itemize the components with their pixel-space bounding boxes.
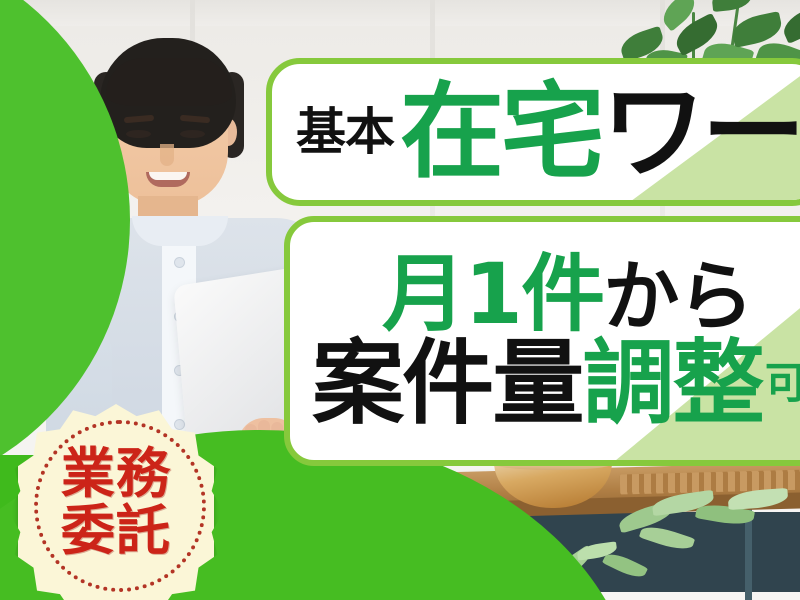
headline-line-1: 基本 在宅 ワーク [272,80,800,184]
nose [160,144,174,166]
advertisement-banner: 基本 在宅 ワーク 月1件 から 案件量 調整 可能 [0,0,800,600]
headline-banner-primary: 基本 在宅 ワーク [266,58,800,206]
headline-keyword-chousei: 調整 [582,338,762,430]
headline-suffix-kara: から [603,259,752,335]
contract-type-seal: 業務 委託 [18,404,214,600]
headline-keyword-zaitaku: 在宅 [400,80,602,184]
headline-suffix-kanou: 可能 [765,363,800,406]
seal-line-1: 業務 [61,446,171,501]
headline-keyword-ankenryou: 案件量 [312,338,582,430]
shirt-button [175,258,184,267]
headline-prefix-kihon: 基本 [296,108,394,157]
eye-left [126,130,151,138]
headline-keyword-work: ワーク [602,80,800,184]
shirt-collar [132,216,228,246]
headline-banner-secondary: 月1件 から 案件量 調整 可能 [284,216,800,466]
eye-right [180,130,205,138]
headline-line-3: 案件量 調整 可能 [312,338,800,430]
hair-fringe [106,58,232,106]
headline-line-2: 月1件 から [312,252,800,336]
seal-text-group: 業務 委託 [18,404,214,600]
headline-keyword-getsu-ikken: 月1件 [382,252,603,336]
seal-line-2: 委託 [61,503,171,558]
